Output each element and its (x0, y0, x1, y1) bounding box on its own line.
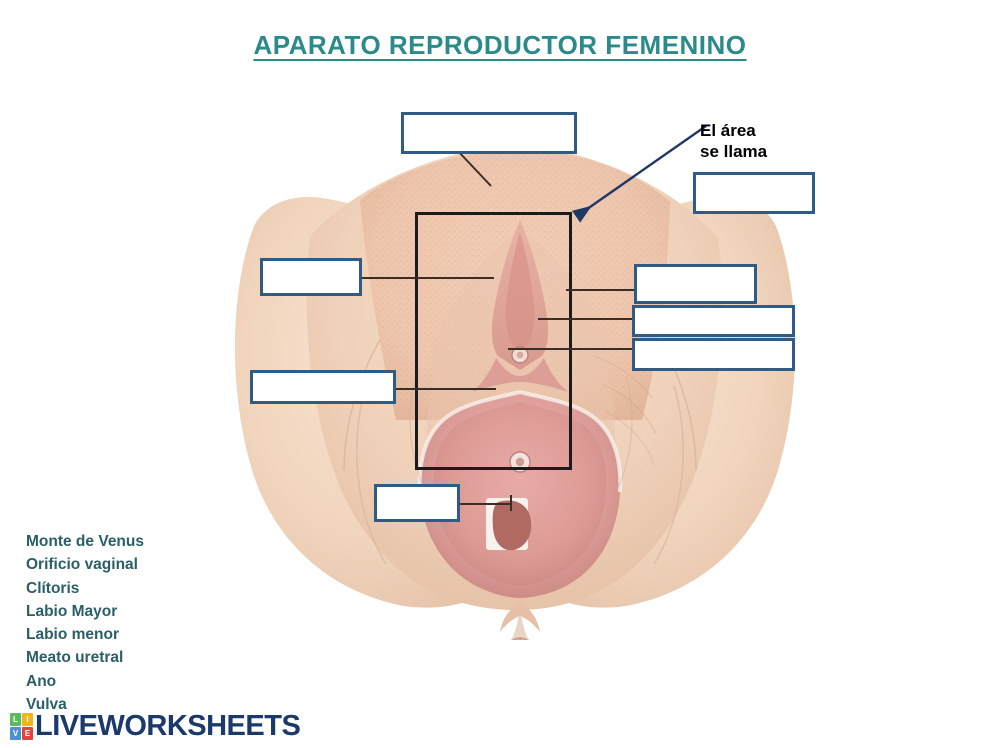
callout-text: El área se llama (700, 120, 767, 163)
leader-line-meato-uretral (508, 348, 634, 350)
answer-box-vulva[interactable] (693, 172, 815, 214)
focus-rectangle (415, 212, 572, 470)
word-bank-item-4: Labio menor (26, 623, 144, 646)
answer-box-ano[interactable] (374, 484, 460, 522)
answer-box-labio-mayor[interactable] (634, 264, 757, 304)
leader-line-monte-de-venus (455, 148, 525, 208)
word-bank-item-6: Ano (26, 670, 144, 693)
leader-line-labio-mayor (566, 289, 634, 291)
logo-wordmark: LIVEWORKSHEETS (35, 712, 300, 741)
liveworksheets-logo: L I V E LIVEWORKSHEETS (10, 712, 300, 741)
leader-line-ano (460, 503, 512, 505)
leader-line-clitoris (362, 277, 494, 279)
worksheet-page: APARATO REPRODUCTOR FEMENINO (0, 0, 1000, 748)
leader-line-orificio-vaginal (396, 388, 496, 390)
answer-box-orificio-vaginal[interactable] (250, 370, 396, 404)
word-bank-item-2: Clítoris (26, 577, 144, 600)
word-bank-item-3: Labio Mayor (26, 600, 144, 623)
leader-line-labio-menor (538, 318, 634, 320)
word-bank-item-5: Meato uretral (26, 646, 144, 669)
logo-tiles: L I V E (10, 713, 33, 740)
logo-tile-v: V (10, 727, 21, 740)
answer-box-monte-de-venus[interactable] (401, 112, 577, 154)
answer-box-labio-menor[interactable] (632, 305, 795, 337)
callout-line-2: se llama (700, 141, 767, 162)
callout-line-1: El área (700, 120, 767, 141)
logo-tile-i: I (22, 713, 33, 726)
answer-box-clitoris[interactable] (260, 258, 362, 296)
word-bank: Monte de Venus Orificio vaginal Clítoris… (26, 530, 144, 716)
leader-line-ano-tick (510, 495, 512, 511)
logo-tile-l: L (10, 713, 21, 726)
word-bank-item-0: Monte de Venus (26, 530, 144, 553)
answer-box-meato-uretral[interactable] (632, 338, 795, 371)
page-title: APARATO REPRODUCTOR FEMENINO (0, 30, 1000, 61)
logo-tile-e: E (22, 727, 33, 740)
word-bank-item-1: Orificio vaginal (26, 553, 144, 576)
